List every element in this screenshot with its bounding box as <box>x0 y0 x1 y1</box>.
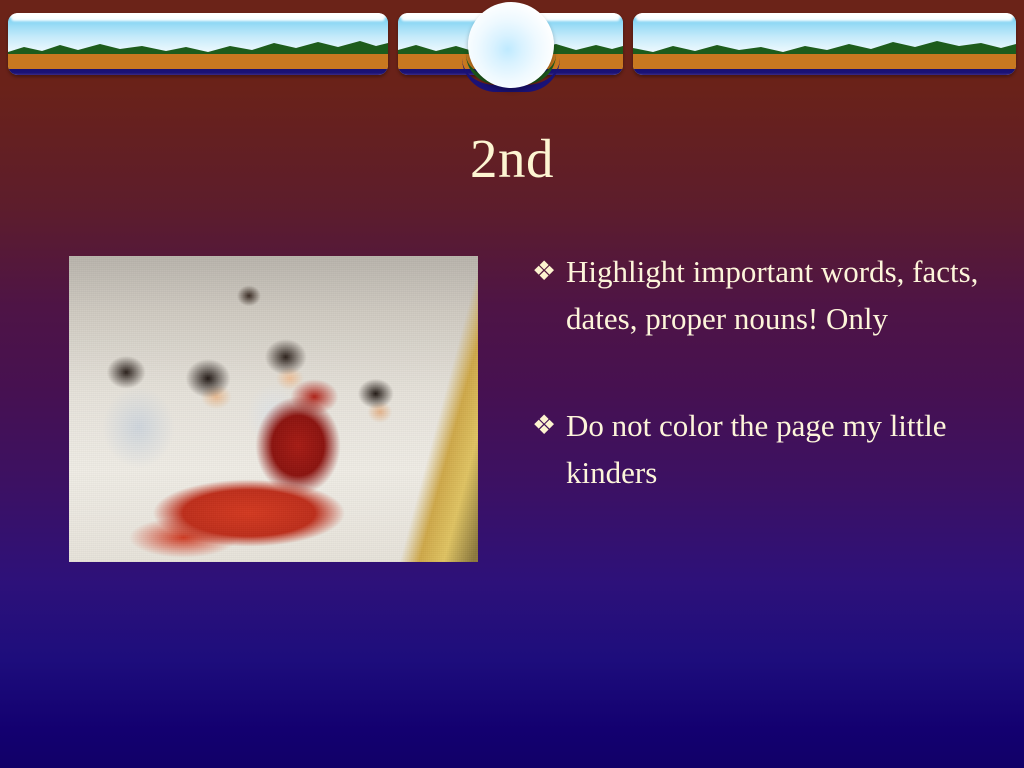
panel-highlight <box>636 15 1013 21</box>
list-item: ❖ Highlight important words, facts, date… <box>532 248 1002 342</box>
diamond-bullet-icon: ❖ <box>532 248 566 294</box>
list-item: ❖ Do not color the page my little kinder… <box>532 402 1002 496</box>
panel-highlight <box>11 15 385 21</box>
slide-title: 2nd <box>0 126 1024 192</box>
classroom-photo <box>69 256 478 562</box>
landscape-panel-left <box>8 13 388 75</box>
photo-grain-overlay <box>69 256 478 562</box>
slide-canvas: 2nd ❖ Highlight important words, facts, … <box>0 0 1024 768</box>
landscape-panel-right <box>633 13 1016 75</box>
bullet-text: Do not color the page my little kinders <box>566 402 1002 496</box>
bullet-text: Highlight important words, facts, dates,… <box>566 248 1002 342</box>
water-strip <box>633 69 1016 75</box>
bullet-list: ❖ Highlight important words, facts, date… <box>532 248 1002 556</box>
globe-orb <box>468 2 554 88</box>
landscape-banner <box>0 0 1024 100</box>
ground-strip <box>633 54 1016 70</box>
water-strip <box>8 69 388 75</box>
ground-strip <box>8 54 388 70</box>
diamond-bullet-icon: ❖ <box>532 402 566 448</box>
